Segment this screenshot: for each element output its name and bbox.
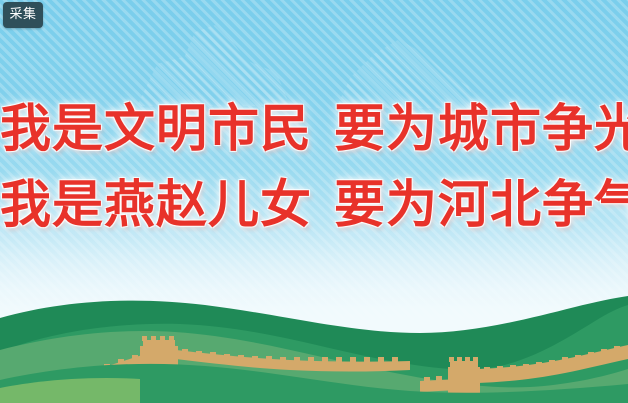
slogan-line-2-left: 我是燕赵儿女 [0,176,312,235]
slogan-line-1-left: 我是文明市民 [0,100,312,159]
slogan-line-2: 我是燕赵儿女要为河北争气 [0,168,628,244]
capture-button[interactable]: 采集 [3,2,43,28]
hill-layer-foreground [0,358,628,403]
slogan-line-1-right: 要为城市争光 [334,100,628,159]
banner-screenshot: 我是文明市民要为城市争光 我是燕赵儿女要为河北争气 采集 [0,0,628,403]
slogan-line-2-right: 要为河北争气 [334,176,628,235]
slogan-line-1: 我是文明市民要为城市争光 [0,92,628,168]
slogan-block: 我是文明市民要为城市争光 我是燕赵儿女要为河北争气 [0,92,628,244]
